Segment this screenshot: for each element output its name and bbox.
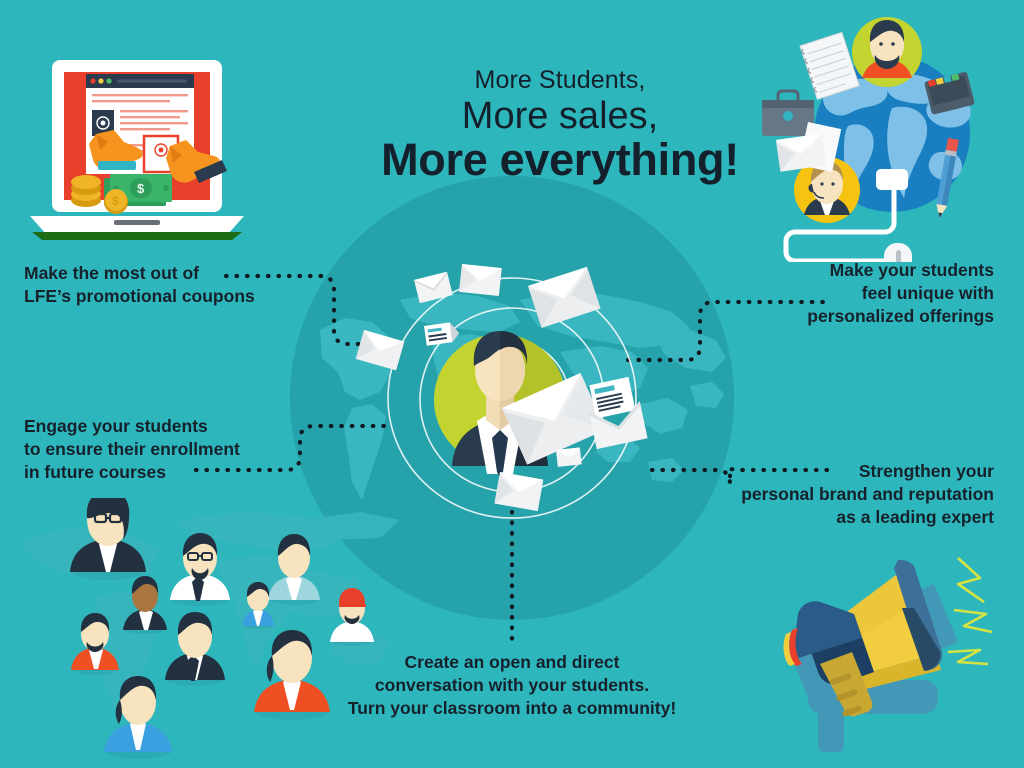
person-avatar (254, 630, 330, 720)
svg-text:$: $ (112, 194, 119, 208)
callout-unique: Make your students feel unique with pers… (704, 259, 994, 327)
callout-coupons: Make the most out of LFE’s promotional c… (24, 262, 284, 308)
person-avatar (123, 576, 167, 634)
person-avatar (70, 498, 146, 580)
sound-waves (948, 558, 992, 664)
envelope-icon (776, 134, 826, 172)
person-avatar (71, 613, 119, 675)
megaphone-illustration (758, 548, 1020, 760)
person-avatar (330, 588, 374, 646)
person-avatar (170, 533, 230, 606)
people-community-illustration (40, 498, 400, 760)
callout-community: Create an open and direct conversation w… (332, 651, 692, 719)
briefcase-icon (762, 91, 814, 136)
person-avatar (104, 676, 172, 759)
avatar-badge-man (852, 17, 922, 87)
callout-brand: Strengthen your personal brand and reput… (684, 460, 994, 528)
person-avatar (268, 534, 320, 605)
callout-engage: Engage your students to ensure their enr… (24, 415, 284, 483)
laptop-coupons-illustration: $ $ (24, 54, 254, 254)
infographic-canvas: $ $ (0, 0, 1024, 768)
person-avatar (165, 612, 225, 686)
central-email-network-illustration (352, 258, 672, 548)
svg-text:$: $ (137, 181, 145, 196)
globe-personalization-illustration (752, 12, 1022, 262)
person-avatar (242, 582, 274, 629)
